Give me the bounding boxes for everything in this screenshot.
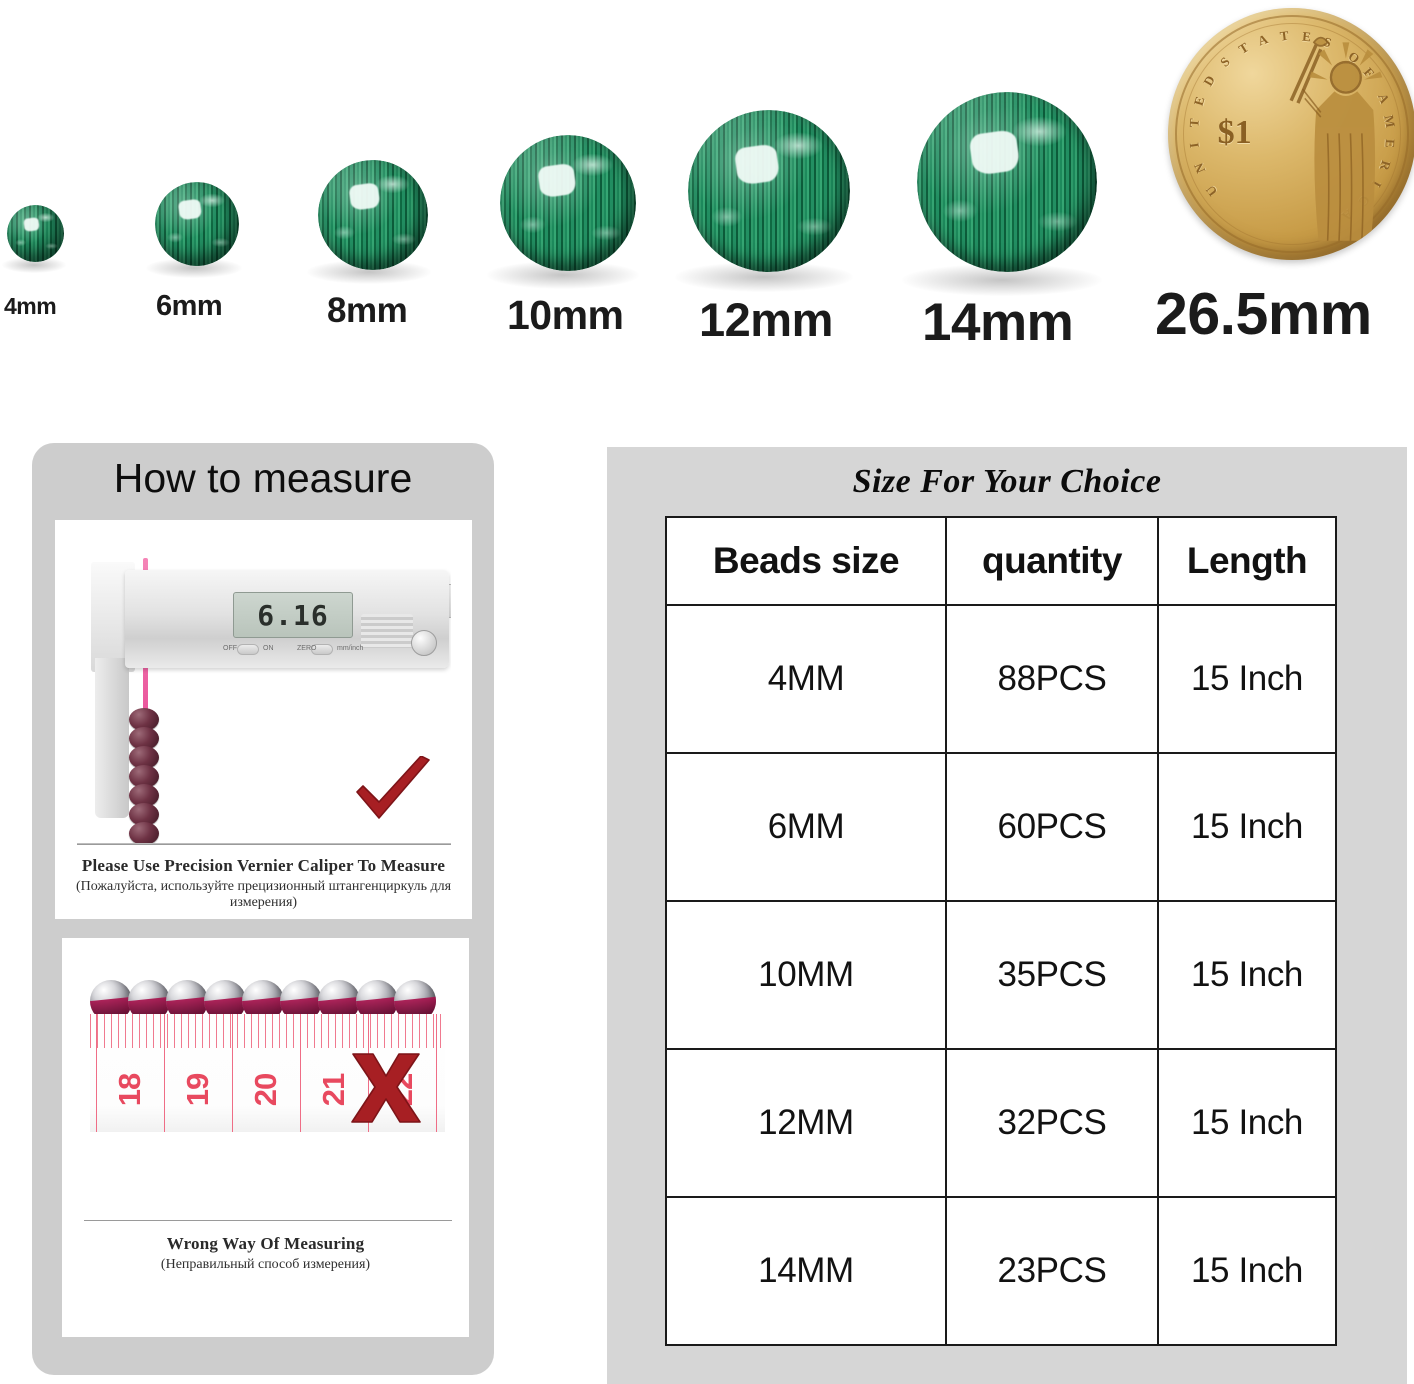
caliper-on-label: ON [263,645,274,652]
cell-length: 15 Inch [1158,753,1336,901]
cell-beads-size: 14MM [666,1197,946,1345]
size-table-title: Size For Your Choice [607,463,1407,501]
malachite-bead-icon [155,182,239,266]
how-to-measure-panel: How to measure 6.16 OFF ON [32,443,494,1375]
cell-beads-size: 4MM [666,605,946,753]
cell-beads-size: 12MM [666,1049,946,1197]
check-mark-icon [351,756,435,828]
table-body: 4MM 88PCS 15 Inch 6MM 60PCS 15 Inch 10MM… [666,605,1336,1345]
bead-size-comparison-row: 4mm 6mm 8mm 10mm [0,0,1414,345]
cell-length: 15 Inch [1158,1197,1336,1345]
coin-denomination: $1 [1218,114,1252,152]
cell-length: 15 Inch [1158,1049,1336,1197]
caliper-reading: 6.16 [257,599,328,632]
cell-quantity: 88PCS [946,605,1158,753]
malachite-bead-icon [917,92,1097,272]
wrong-caption-ru: (Неправильный способ измерения) [62,1257,469,1273]
correct-caption: Please Use Precision Vernier Caliper To … [55,856,472,911]
bead-size-label: 12mm [699,292,833,347]
cell-beads-size: 6MM [666,753,946,901]
column-header-beads-size: Beads size [666,517,946,605]
card-divider [77,844,451,845]
tape-number: 19 [180,1072,216,1108]
malachite-bead-icon [318,160,428,270]
tape-number: 21 [316,1072,352,1108]
correct-method-card: 6.16 OFF ON ZERO mm/inch [55,520,472,919]
size-table: Beads size quantity Length 4MM 88PCS 15 … [665,516,1337,1346]
wrong-caption-en: Wrong Way Of Measuring [62,1234,469,1254]
caliper-off-label: OFF [223,645,237,652]
us-dollar-coin-icon: U N I T E D S T A T E S O F A [1168,8,1414,260]
table-row: 6MM 60PCS 15 Inch [666,753,1336,901]
malachite-bead-icon [688,110,850,272]
product-infographic: 4mm 6mm 8mm 10mm [0,0,1414,1384]
cell-quantity: 35PCS [946,901,1158,1049]
malachite-bead-icon [500,135,636,271]
wrong-method-card: 18 19 20 21 22 Wrong Way Of Measuring (Н… [62,938,469,1337]
cell-length: 15 Inch [1158,901,1336,1049]
cross-mark-icon [349,1052,423,1124]
table-row: 12MM 32PCS 15 Inch [666,1049,1336,1197]
card-divider [84,1220,452,1221]
table-row: 10MM 35PCS 15 Inch [666,901,1336,1049]
statue-of-liberty-icon [1282,33,1396,255]
coin-size-label: 26.5mm [1155,280,1372,348]
cell-beads-size: 10MM [666,901,946,1049]
tape-measure-illustration: 18 19 20 21 22 [90,968,445,1208]
correct-caption-en: Please Use Precision Vernier Caliper To … [55,856,472,876]
bead-strand [129,708,163,844]
tape-number: 18 [112,1072,148,1108]
table-row: 14MM 23PCS 15 Inch [666,1197,1336,1345]
column-header-quantity: quantity [946,517,1158,605]
bead-size-label: 14mm [922,292,1073,353]
table-row: 4MM 88PCS 15 Inch [666,605,1336,753]
caliper-zero-label: ZERO [297,645,316,652]
caliper-unit-label: mm/inch [337,645,363,652]
tape-number: 20 [248,1072,284,1108]
cell-quantity: 60PCS [946,753,1158,901]
table-header-row: Beads size quantity Length [666,517,1336,605]
caliper-illustration: 6.16 OFF ON ZERO mm/inch [77,558,451,844]
caliper-buttons: OFF ON ZERO mm/inch [237,644,387,658]
cell-quantity: 32PCS [946,1049,1158,1197]
caliper-lcd-screen: 6.16 [233,592,353,638]
cell-length: 15 Inch [1158,605,1336,753]
cell-quantity: 23PCS [946,1197,1158,1345]
bead-size-label: 6mm [156,290,222,323]
panel-title: How to measure [32,455,494,502]
wrong-caption: Wrong Way Of Measuring (Неправильный спо… [62,1234,469,1273]
malachite-bead-icon [7,205,64,262]
size-table-panel: Size For Your Choice Beads size quantity… [607,447,1407,1384]
bead-size-label: 8mm [327,291,407,331]
correct-caption-ru: (Пожалуйста, используйте прецизионный шт… [55,879,472,911]
bead-size-label: 10mm [507,292,624,339]
bead-size-label: 4mm [4,293,56,320]
column-header-length: Length [1158,517,1336,605]
